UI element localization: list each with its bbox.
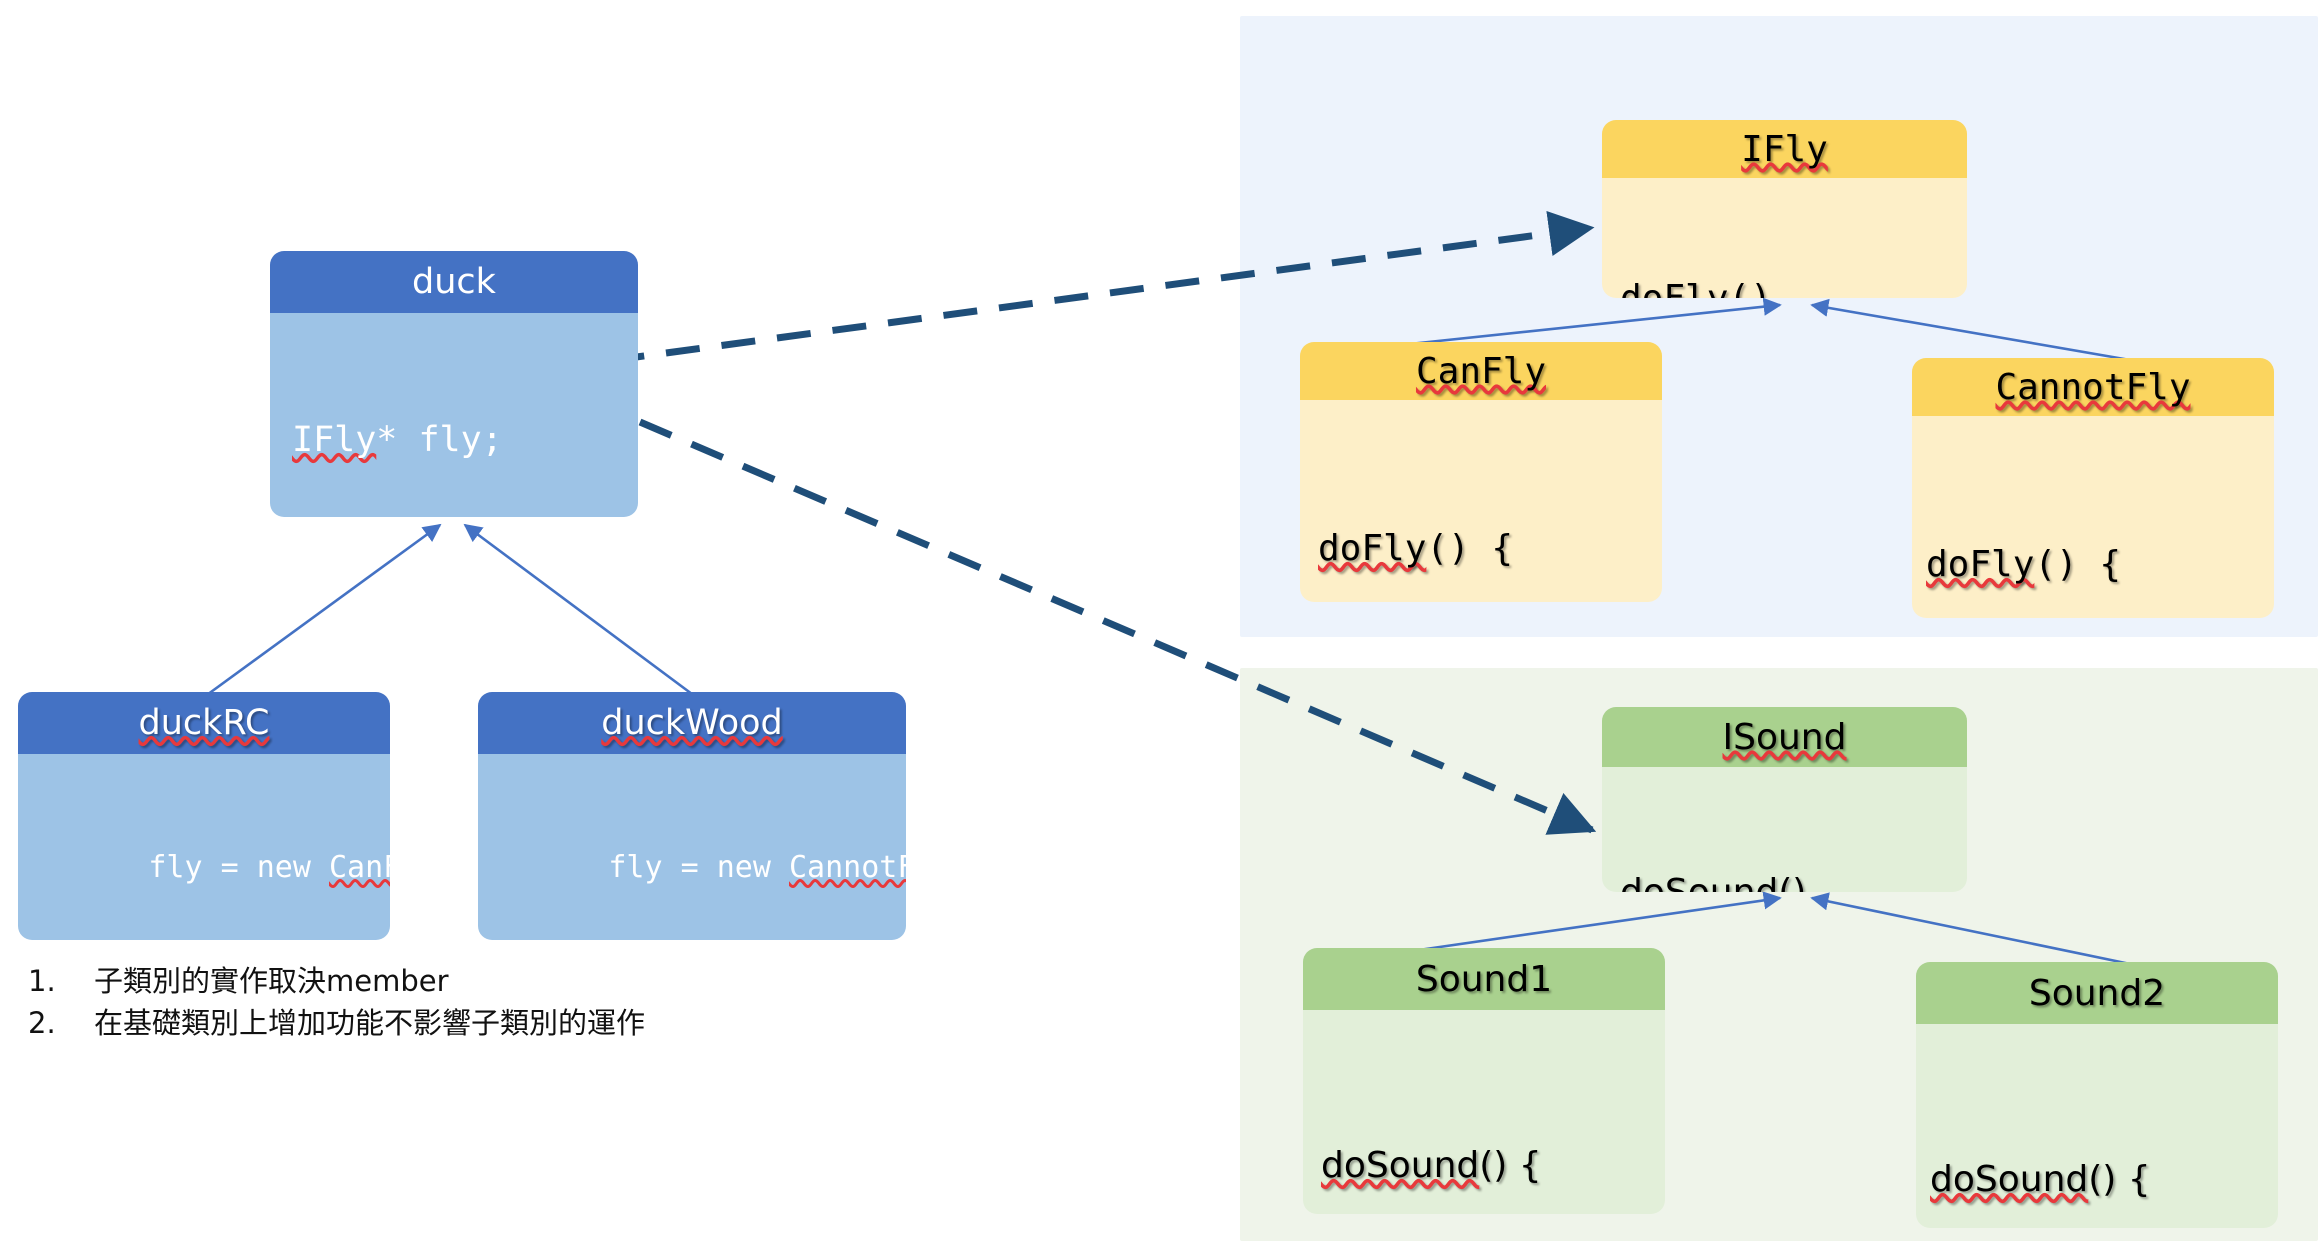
class-box-sound1[interactable]: Sound1 doSound() { “Sound1” } (1303, 948, 1665, 1214)
class-title-duckwood-text: duckWood (601, 703, 783, 743)
method-dosound-sound1: doSound (1321, 1145, 1479, 1186)
class-body-cannotfly: doFly() { “Cannot fly” } (1912, 416, 2274, 618)
member-type-ifly: IFly (292, 420, 376, 460)
note-item-2: 2. 在基礎類別上增加功能不影響子類別的運作 (28, 1002, 928, 1044)
class-box-isound[interactable]: ISound doSound() … (1602, 707, 1967, 892)
class-box-ifly[interactable]: IFly doFly() … (1602, 120, 1967, 298)
note-text-2: 在基礎類別上增加功能不影響子類別的運作 (94, 1002, 928, 1044)
class-title-cannotfly-text: CannotFly (1995, 367, 2190, 408)
method-dofly-canfly-rest: () { (1426, 528, 1513, 569)
method-dosound-sound2-rest: () { (2088, 1159, 2150, 1200)
class-body-duckrc: fly = new CanFly() (18, 754, 390, 940)
method-dosound-isound: doSound (1620, 872, 1778, 892)
class-title-ifly-text: IFly (1741, 129, 1828, 170)
class-body-sound2: doSound() { “Sound2” } (1916, 1024, 2278, 1228)
ctor-canfly: CanFly (329, 850, 390, 885)
class-title-ifly: IFly (1602, 120, 1967, 178)
edge-duckrc-to-duck (200, 525, 440, 700)
method-dosound-sound1-rest: () { (1479, 1145, 1541, 1186)
class-title-duckrc-text: duckRC (139, 703, 270, 743)
note-item-1: 1. 子類別的實作取決member (28, 960, 928, 1002)
method-dofly-ifly-parens: () (1728, 278, 1771, 298)
class-title-duck: duck (270, 251, 638, 313)
class-box-duck[interactable]: duck IFly* fly; Isound* sound; … (270, 251, 638, 517)
method-dofly-cannotfly-rest: () { (2034, 544, 2121, 585)
class-title-isound-text: ISound (1723, 717, 1847, 758)
diagram-canvas: duck IFly* fly; Isound* sound; … duckRC … (0, 0, 2318, 1258)
class-body-sound1: doSound() { “Sound1” } (1303, 1010, 1665, 1214)
method-dofly-canfly: doFly (1318, 528, 1426, 569)
class-body-isound: doSound() … (1602, 767, 1967, 892)
notes-list: 1. 子類別的實作取決member 2. 在基礎類別上增加功能不影響子類別的運作 (28, 960, 928, 1044)
class-title-canfly-text: CanFly (1416, 351, 1546, 392)
class-box-duckwood[interactable]: duckWood fly = new CannotFly() (478, 692, 906, 940)
member-decl-fly: * fly; (376, 420, 502, 460)
method-dofly-cannotfly: doFly (1926, 544, 2034, 585)
class-box-canfly[interactable]: CanFly doFly() { “Can fly” } (1300, 342, 1662, 602)
class-title-duckwood: duckWood (478, 692, 906, 754)
class-title-cannotfly: CannotFly (1912, 358, 2274, 416)
class-title-duckrc: duckRC (18, 692, 390, 754)
class-body-duckwood: fly = new CannotFly() (478, 754, 906, 940)
edge-duckwood-to-duck (465, 525, 700, 700)
note-number-1: 1. (28, 960, 94, 1002)
method-dosound-isound-parens: () (1778, 872, 1806, 892)
class-body-ifly: doFly() … (1602, 178, 1967, 298)
class-box-duckrc[interactable]: duckRC fly = new CanFly() (18, 692, 390, 940)
class-box-sound2[interactable]: Sound2 doSound() { “Sound2” } (1916, 962, 2278, 1228)
class-body-canfly: doFly() { “Can fly” } (1300, 400, 1662, 602)
class-title-sound2: Sound2 (1916, 962, 2278, 1024)
stmt-duckrc-prefix: fly = new (148, 850, 329, 885)
class-title-canfly: CanFly (1300, 342, 1662, 400)
method-dosound-sound2: doSound (1930, 1159, 2088, 1200)
method-dofly-ifly: doFly (1620, 278, 1728, 298)
class-body-duck: IFly* fly; Isound* sound; … (270, 313, 638, 517)
class-title-isound: ISound (1602, 707, 1967, 767)
note-text-1: 子類別的實作取決member (94, 960, 928, 1002)
ctor-cannotfly: CannotFly (789, 850, 906, 885)
stmt-duckwood-prefix: fly = new (608, 850, 789, 885)
class-box-cannotfly[interactable]: CannotFly doFly() { “Cannot fly” } (1912, 358, 2274, 618)
class-title-sound1: Sound1 (1303, 948, 1665, 1010)
note-number-2: 2. (28, 1002, 94, 1044)
